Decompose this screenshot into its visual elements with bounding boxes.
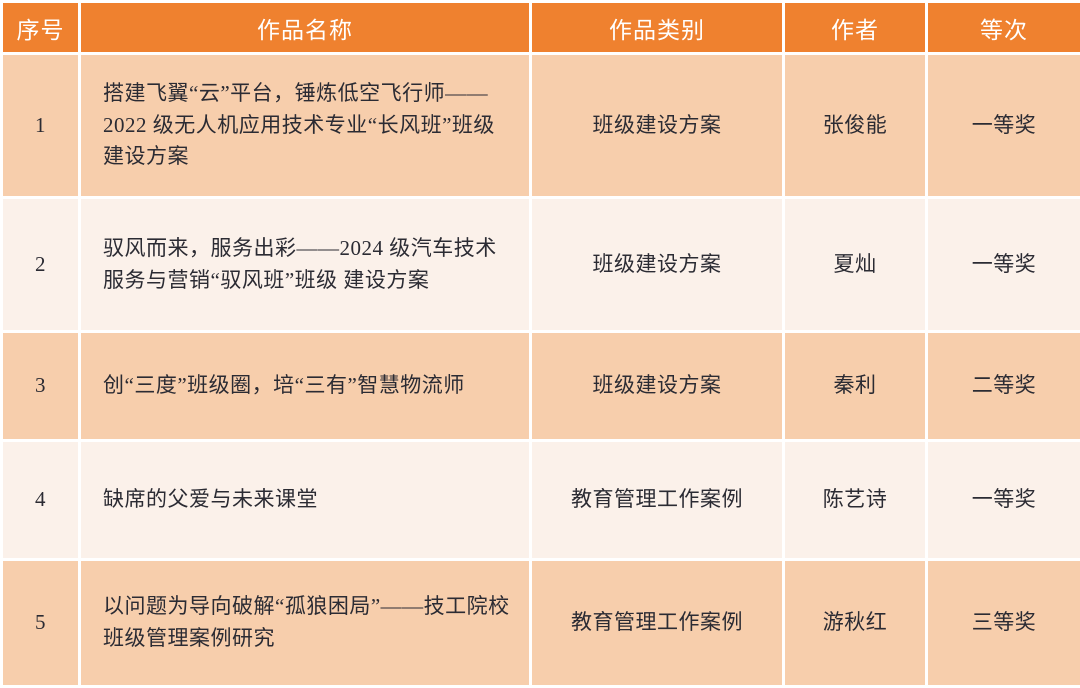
column-header-category: 作品类别 xyxy=(531,2,784,54)
cell-author: 张俊能 xyxy=(784,54,927,198)
cell-title: 驭风而来，服务出彩——2024 级汽车技术服务与营销“驭风班”班级 建设方案 xyxy=(80,198,531,332)
cell-title: 创“三度”班级圈，培“三有”智慧物流师 xyxy=(80,332,531,441)
table-row: 3 创“三度”班级圈，培“三有”智慧物流师 班级建设方案 秦利 二等奖 xyxy=(2,332,1080,441)
cell-grade: 三等奖 xyxy=(927,560,1080,687)
cell-grade: 一等奖 xyxy=(927,54,1080,198)
cell-author: 游秋红 xyxy=(784,560,927,687)
cell-grade: 一等奖 xyxy=(927,441,1080,560)
table-body: 1 搭建飞翼“云”平台，锤炼低空飞行师——2022 级无人机应用技术专业“长风班… xyxy=(2,54,1080,687)
column-header-grade: 等次 xyxy=(927,2,1080,54)
table-row: 2 驭风而来，服务出彩——2024 级汽车技术服务与营销“驭风班”班级 建设方案… xyxy=(2,198,1080,332)
cell-author: 陈艺诗 xyxy=(784,441,927,560)
cell-category: 班级建设方案 xyxy=(531,54,784,198)
cell-title: 以问题为导向破解“孤狼困局”——技工院校班级管理案例研究 xyxy=(80,560,531,687)
cell-title: 搭建飞翼“云”平台，锤炼低空飞行师——2022 级无人机应用技术专业“长风班”班… xyxy=(80,54,531,198)
cell-grade: 一等奖 xyxy=(927,198,1080,332)
cell-index: 4 xyxy=(2,441,80,560)
table-row: 4 缺席的父爱与未来课堂 教育管理工作案例 陈艺诗 一等奖 xyxy=(2,441,1080,560)
awards-table: 序号 作品名称 作品类别 作者 等次 1 搭建飞翼“云”平台，锤炼低空飞行师——… xyxy=(0,0,1080,688)
cell-category: 教育管理工作案例 xyxy=(531,560,784,687)
table-row: 5 以问题为导向破解“孤狼困局”——技工院校班级管理案例研究 教育管理工作案例 … xyxy=(2,560,1080,687)
column-header-index: 序号 xyxy=(2,2,80,54)
column-header-author: 作者 xyxy=(784,2,927,54)
cell-category: 班级建设方案 xyxy=(531,198,784,332)
cell-author: 秦利 xyxy=(784,332,927,441)
cell-category: 班级建设方案 xyxy=(531,332,784,441)
cell-author: 夏灿 xyxy=(784,198,927,332)
cell-index: 1 xyxy=(2,54,80,198)
cell-grade: 二等奖 xyxy=(927,332,1080,441)
column-header-title: 作品名称 xyxy=(80,2,531,54)
cell-index: 2 xyxy=(2,198,80,332)
cell-index: 3 xyxy=(2,332,80,441)
table-header: 序号 作品名称 作品类别 作者 等次 xyxy=(2,2,1080,54)
cell-category: 教育管理工作案例 xyxy=(531,441,784,560)
header-row: 序号 作品名称 作品类别 作者 等次 xyxy=(2,2,1080,54)
cell-title: 缺席的父爱与未来课堂 xyxy=(80,441,531,560)
table-row: 1 搭建飞翼“云”平台，锤炼低空飞行师——2022 级无人机应用技术专业“长风班… xyxy=(2,54,1080,198)
cell-index: 5 xyxy=(2,560,80,687)
